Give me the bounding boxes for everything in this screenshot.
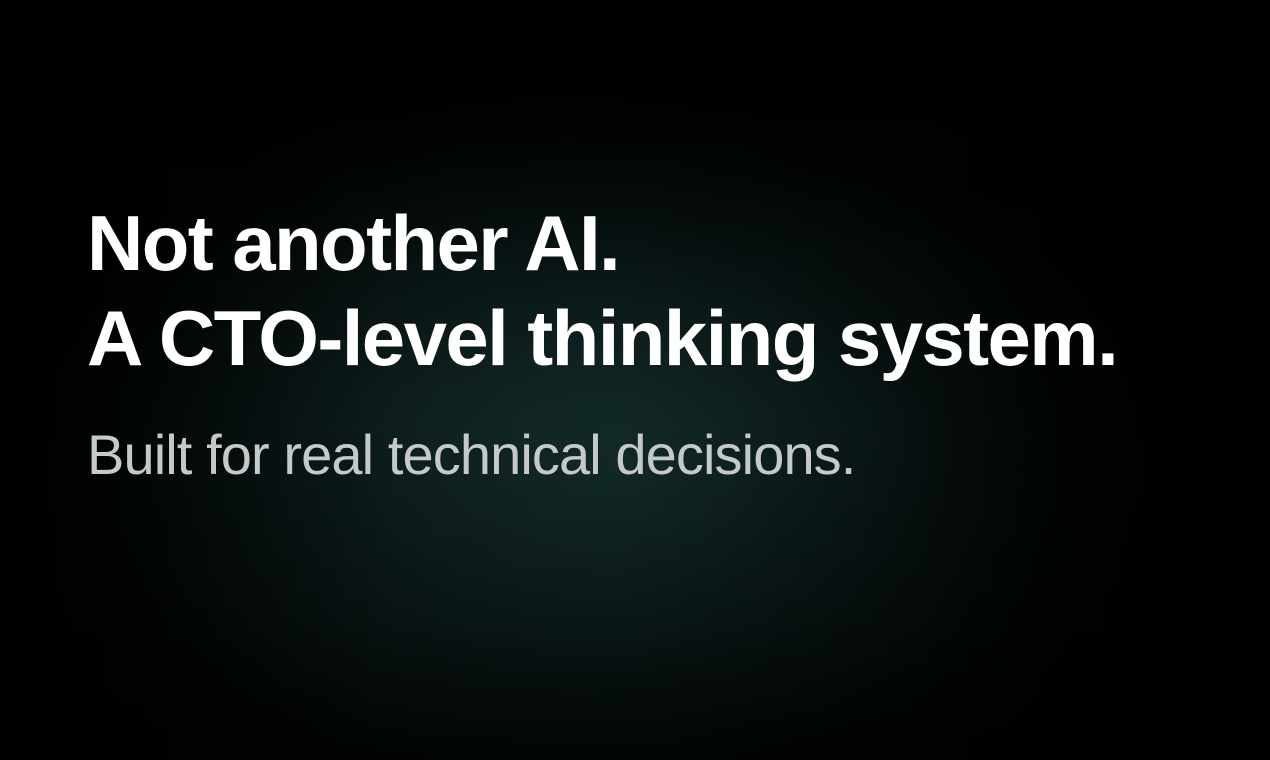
hero-section: Not another AI. A CTO-level thinking sys… — [0, 0, 1270, 760]
hero-content: Not another AI. A CTO-level thinking sys… — [87, 196, 1207, 488]
headline-line-2: A CTO-level thinking system. — [87, 291, 1207, 386]
headline-line-1: Not another AI. — [87, 196, 1207, 291]
page-title: Not another AI. A CTO-level thinking sys… — [87, 196, 1207, 386]
page-subtitle: Built for real technical decisions. — [87, 386, 1207, 488]
